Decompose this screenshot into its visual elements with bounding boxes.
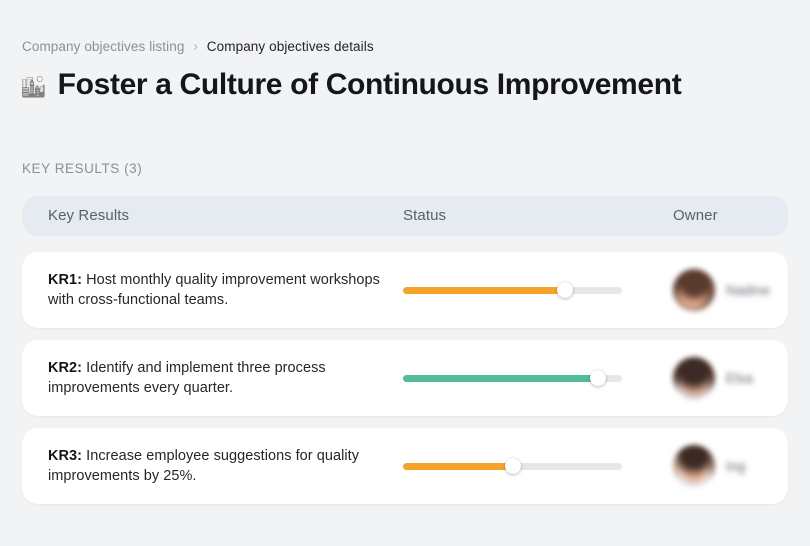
owner-name: Elsa — [726, 371, 753, 386]
column-header-key-results: Key Results — [48, 207, 129, 224]
owner-name: Ing — [726, 459, 745, 474]
table-row[interactable]: KR2: Identify and implement three proces… — [22, 340, 788, 416]
table-header-cell-key-results: Key Results — [22, 207, 392, 225]
owner[interactable]: Nadine — [673, 269, 788, 311]
table-cell-key-result: KR1: Host monthly quality improvement wo… — [22, 270, 392, 311]
table-row[interactable]: KR3: Increase employee suggestions for q… — [22, 428, 788, 504]
owner-avatar — [673, 269, 715, 311]
table-cell-owner: Ing — [648, 445, 788, 487]
progress-slider[interactable] — [403, 369, 622, 387]
key-result-text: KR2: Identify and implement three proces… — [48, 358, 392, 399]
owner-avatar — [673, 445, 715, 487]
breadcrumb-link-listing[interactable]: Company objectives listing — [22, 38, 184, 56]
slider-thumb[interactable] — [557, 282, 573, 298]
breadcrumb-current: Company objectives details — [207, 38, 374, 56]
table-cell-key-result: KR2: Identify and implement three proces… — [22, 358, 392, 399]
slider-thumb[interactable] — [590, 370, 606, 386]
table-row[interactable]: KR1: Host monthly quality improvement wo… — [22, 252, 788, 328]
key-results-section-label: KEY RESULTS (3) — [22, 161, 142, 176]
cityscape-icon: 🏙 — [20, 77, 47, 98]
page-header: 🏙 Foster a Culture of Continuous Improve… — [20, 64, 681, 106]
table-header-row: Key Results Status Owner — [22, 196, 788, 236]
owner[interactable]: Ing — [673, 445, 788, 487]
key-result-code: KR2: — [48, 360, 82, 376]
key-result-description: Increase employee suggestions for qualit… — [48, 448, 359, 485]
table-header-cell-owner: Owner — [648, 207, 788, 225]
table-cell-owner: Elsa — [648, 357, 788, 399]
table-cell-owner: Nadine — [648, 269, 788, 311]
column-header-owner: Owner — [673, 207, 718, 224]
progress-slider[interactable] — [403, 457, 622, 475]
key-result-code: KR3: — [48, 448, 82, 464]
chevron-right-icon: › — [193, 38, 197, 56]
objective-details-page: Company objectives listing › Company obj… — [0, 0, 810, 546]
table-cell-status — [392, 369, 648, 387]
slider-fill — [403, 463, 513, 470]
slider-thumb[interactable] — [505, 458, 521, 474]
slider-fill — [403, 287, 565, 294]
key-result-description: Identify and implement three process imp… — [48, 360, 326, 397]
owner[interactable]: Elsa — [673, 357, 788, 399]
owner-avatar — [673, 357, 715, 399]
table-cell-status — [392, 457, 648, 475]
slider-fill — [403, 375, 598, 382]
breadcrumb: Company objectives listing › Company obj… — [22, 38, 374, 56]
page-title: Foster a Culture of Continuous Improveme… — [58, 67, 682, 103]
key-result-description: Host monthly quality improvement worksho… — [48, 272, 380, 309]
key-results-table: Key Results Status Owner KR1: Host month… — [22, 196, 788, 504]
table-cell-key-result: KR3: Increase employee suggestions for q… — [22, 446, 392, 487]
column-header-status: Status — [403, 207, 446, 224]
table-header-cell-status: Status — [392, 207, 648, 225]
table-cell-status — [392, 281, 648, 299]
key-result-text: KR1: Host monthly quality improvement wo… — [48, 270, 392, 311]
key-result-code: KR1: — [48, 272, 82, 288]
progress-slider[interactable] — [403, 281, 622, 299]
owner-name: Nadine — [726, 283, 770, 298]
key-result-text: KR3: Increase employee suggestions for q… — [48, 446, 392, 487]
